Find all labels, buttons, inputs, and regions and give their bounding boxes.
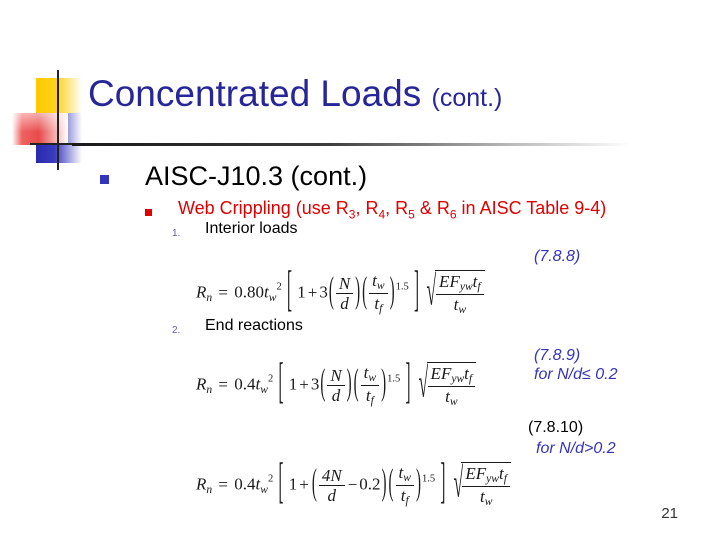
eq1-plus: + bbox=[306, 283, 320, 302]
eq3-close-paren-2: ) bbox=[415, 467, 422, 504]
equation-ref-7-8-10: (7.8.10) bbox=[528, 419, 583, 437]
eq2-radical: √EFywtftw bbox=[419, 362, 476, 409]
eq3-rad-tw-sub: w bbox=[485, 495, 493, 508]
eq2-radical-body: EFywtftw bbox=[427, 362, 477, 409]
deco-red-square-fade bbox=[12, 113, 68, 145]
web-crippling-mid-3: & R bbox=[415, 198, 450, 218]
equation-condition-7-8-10: for N/d>0.2 bbox=[536, 440, 616, 458]
eq3-E: E bbox=[465, 464, 475, 483]
eq3-lhs-var: R bbox=[196, 475, 206, 494]
eq2-t-sup: 2 bbox=[268, 374, 273, 385]
eq1-frac-d: d bbox=[336, 293, 353, 313]
eq3-radical-body: EFywtftw bbox=[461, 462, 511, 509]
web-crippling-prefix: Web Crippling (use R bbox=[178, 198, 349, 218]
eq1-radical: √EFywtftw bbox=[427, 270, 484, 317]
eq1-open-paren-1: ( bbox=[328, 275, 335, 312]
eq3-rad-tf-sub: f bbox=[504, 472, 507, 485]
deco-horizontal-line bbox=[30, 143, 78, 145]
web-crippling-suffix: in AISC Table 9-4) bbox=[457, 198, 607, 218]
eq2-fraction-tw-over-tf: twtf bbox=[361, 363, 379, 408]
web-crippling-mid-1: , R bbox=[355, 198, 378, 218]
eq2-F-sub: yw bbox=[451, 372, 464, 385]
eq2-lhs-var: R bbox=[196, 375, 206, 394]
eq2-three: 3 bbox=[311, 375, 320, 394]
eq3-rad-den: tw bbox=[462, 486, 510, 509]
eq1-fraction-tw-over-tf: twtf bbox=[369, 271, 387, 316]
eq2-F: F bbox=[441, 364, 451, 383]
eq2-coefficient: 0.4 bbox=[234, 375, 255, 394]
eq2-rad-den: tw bbox=[428, 386, 476, 409]
eq2-bracket-content: 1+3(Nd)(twtf)1.5 bbox=[289, 363, 401, 408]
eq1-radical-sign: √ bbox=[427, 273, 437, 315]
eq2-tf-sub: f bbox=[371, 394, 374, 407]
equation-7-8-10: Rn = 0.4tw2 [ 1+(4Nd−0.2)(twtf)1.5 ] √EF… bbox=[196, 462, 511, 509]
eq3-fraction-tw-over-tf: twtf bbox=[396, 463, 414, 508]
eq1-t-sup: 2 bbox=[276, 282, 281, 293]
eq3-frac-d: d bbox=[319, 485, 345, 505]
eq3-t-sub: w bbox=[260, 483, 268, 496]
eq3-frac-4N: 4N bbox=[319, 466, 345, 485]
page-title-main: Concentrated Loads bbox=[88, 73, 421, 114]
eq1-bracket-content: 1+3(Nd)(twtf)1.5 bbox=[297, 271, 409, 316]
deco-yellow-square bbox=[36, 78, 82, 114]
eq2-close-paren-1: ) bbox=[346, 367, 353, 404]
eq2-one: 1 bbox=[289, 375, 298, 394]
eq1-F: F bbox=[449, 272, 459, 291]
eq2-open-bracket: [ bbox=[277, 361, 284, 411]
eq2-open-paren-1: ( bbox=[319, 367, 326, 404]
eq1-equals: = bbox=[216, 283, 230, 302]
eq2-open-paren-2: ( bbox=[353, 367, 360, 404]
eq1-rad-den: tw bbox=[436, 294, 484, 317]
r-subscript-5: 5 bbox=[408, 208, 415, 222]
equation-7-8-9: Rn = 0.4tw2 [ 1+3(Nd)(twtf)1.5 ] √EFywtf… bbox=[196, 362, 476, 409]
equation-condition-7-8-9: for N/d≤ 0.2 bbox=[534, 366, 617, 384]
eq1-E: E bbox=[439, 272, 449, 291]
eq3-plus: + bbox=[297, 475, 311, 494]
eq2-frac-tf: tf bbox=[361, 385, 379, 408]
web-crippling-mid-2: , R bbox=[385, 198, 408, 218]
eq3-close-bracket: ] bbox=[439, 461, 446, 511]
eq1-lhs-sub: n bbox=[206, 291, 212, 304]
eq1-fraction-N-over-d: Nd bbox=[336, 274, 353, 313]
title-underline-rule bbox=[72, 143, 632, 146]
eq3-close-paren-1: ) bbox=[381, 467, 388, 504]
bullet-square-level2 bbox=[145, 209, 152, 216]
equation-7-8-8: Rn = 0.80tw2 [ 1+3(Nd)(twtf)1.5 ] √EFywt… bbox=[196, 270, 485, 317]
eq3-fraction-4N-over-d: 4Nd bbox=[319, 466, 345, 505]
eq3-tf-sub: f bbox=[405, 494, 408, 507]
bullet-level2-label: Web Crippling (use R3, R4, R5 & R6 in AI… bbox=[178, 198, 606, 222]
eq1-one: 1 bbox=[297, 283, 306, 302]
page-title-suffix: (cont.) bbox=[432, 84, 503, 112]
eq2-frac-tw: tw bbox=[361, 363, 379, 385]
equation-ref-7-8-8: (7.8.8) bbox=[534, 248, 580, 266]
r-subscript-6: 6 bbox=[450, 208, 457, 222]
bullet-square-level1 bbox=[100, 175, 109, 184]
eq1-coefficient: 0.80 bbox=[234, 283, 264, 302]
eq3-radical-fraction: EFywtftw bbox=[462, 464, 510, 509]
eq2-radical-fraction: EFywtftw bbox=[428, 364, 476, 409]
list-item-marker-2: 2. bbox=[172, 325, 180, 336]
equation-ref-7-8-9: (7.8.9) bbox=[534, 347, 580, 365]
eq1-three: 3 bbox=[319, 283, 328, 302]
eq1-rad-num: EFywtf bbox=[436, 272, 484, 294]
eq2-radical-sign: √ bbox=[418, 365, 428, 407]
eq1-close-bracket: ] bbox=[413, 269, 420, 319]
eq3-open-bracket: [ bbox=[277, 461, 284, 511]
eq3-constant: 0.2 bbox=[359, 475, 380, 494]
eq1-rad-tf-sub: f bbox=[477, 280, 480, 293]
eq1-exponent: 1.5 bbox=[396, 282, 409, 293]
eq1-frac-tf: tf bbox=[369, 293, 387, 316]
eq2-equals: = bbox=[216, 375, 230, 394]
eq1-tf-sub: f bbox=[379, 302, 382, 315]
list-item-label-interior-loads: Interior loads bbox=[205, 220, 298, 238]
eq3-t-sup: 2 bbox=[268, 474, 273, 485]
eq3-radical: √EFywtftw bbox=[454, 462, 511, 509]
page-title: Concentrated Loads (cont.) bbox=[88, 72, 502, 120]
eq1-close-paren-1: ) bbox=[354, 275, 361, 312]
eq2-plus: + bbox=[297, 375, 311, 394]
eq3-equals: = bbox=[216, 475, 230, 494]
eq3-open-paren-2: ( bbox=[388, 467, 395, 504]
eq1-lhs-var: R bbox=[196, 283, 206, 302]
eq2-E: E bbox=[431, 364, 441, 383]
eq3-coefficient: 0.4 bbox=[234, 475, 255, 494]
bullet-level1-label: AISC-J10.3 (cont.) bbox=[145, 161, 367, 192]
eq1-open-paren-2: ( bbox=[361, 275, 368, 312]
eq2-close-bracket: ] bbox=[405, 361, 412, 411]
eq3-radical-sign: √ bbox=[453, 465, 463, 507]
eq3-lhs-sub: n bbox=[206, 483, 212, 496]
eq2-frac-d: d bbox=[327, 385, 344, 405]
eq3-F: F bbox=[476, 464, 486, 483]
eq2-exponent: 1.5 bbox=[387, 374, 400, 385]
eq3-minus: − bbox=[346, 475, 360, 494]
eq2-t-sub: w bbox=[260, 383, 268, 396]
eq3-frac-tw: tw bbox=[396, 463, 414, 485]
eq2-rad-tf-sub: f bbox=[469, 372, 472, 385]
eq3-frac-tf: tf bbox=[396, 485, 414, 508]
eq1-frac-N: N bbox=[336, 274, 353, 293]
eq2-tw-sub: w bbox=[368, 371, 376, 384]
list-item-marker-1: 1. bbox=[172, 228, 180, 239]
eq1-radical-fraction: EFywtftw bbox=[436, 272, 484, 317]
eq3-rad-num: EFywtf bbox=[462, 464, 510, 486]
eq1-rad-tw-sub: w bbox=[458, 303, 466, 316]
eq1-open-bracket: [ bbox=[286, 269, 293, 319]
eq1-close-paren-2: ) bbox=[389, 275, 396, 312]
eq3-exponent: 1.5 bbox=[422, 474, 435, 485]
eq3-F-sub: yw bbox=[486, 472, 499, 485]
eq2-rad-tw-sub: w bbox=[450, 395, 458, 408]
list-item-label-end-reactions: End reactions bbox=[205, 317, 303, 335]
eq1-F-sub: yw bbox=[460, 280, 473, 293]
eq3-bracket-content: 1+(4Nd−0.2)(twtf)1.5 bbox=[289, 463, 435, 508]
eq1-tw-sub: w bbox=[377, 279, 385, 292]
deco-vertical-line bbox=[57, 70, 59, 170]
eq2-rad-num: EFywtf bbox=[428, 364, 476, 386]
eq3-one: 1 bbox=[289, 475, 298, 494]
eq3-open-paren-1: ( bbox=[311, 467, 318, 504]
eq3-tw-sub: w bbox=[403, 471, 411, 484]
eq2-close-paren-2: ) bbox=[380, 367, 387, 404]
eq2-fraction-N-over-d: Nd bbox=[327, 366, 344, 405]
eq1-frac-tw: tw bbox=[369, 271, 387, 293]
eq1-radical-body: EFywtftw bbox=[435, 270, 485, 317]
eq2-frac-N: N bbox=[327, 366, 344, 385]
eq2-lhs-sub: n bbox=[206, 383, 212, 396]
page-number: 21 bbox=[661, 505, 678, 522]
